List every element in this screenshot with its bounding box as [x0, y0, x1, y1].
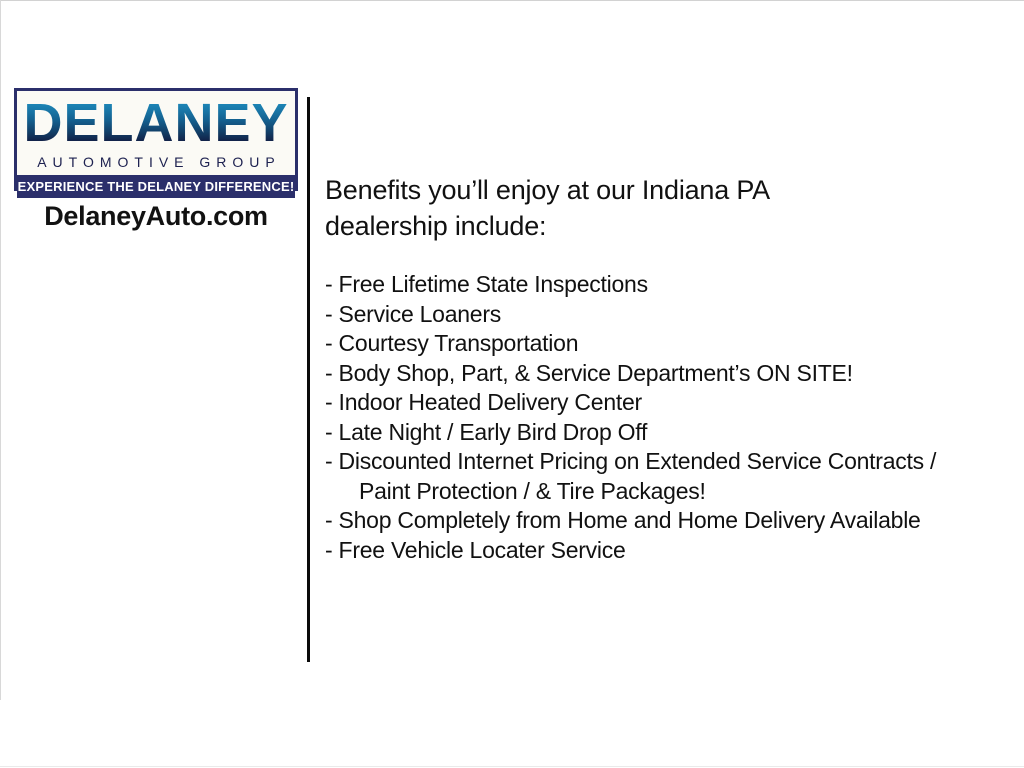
benefit-item-5: - Indoor Heated Delivery Center [325, 388, 1005, 418]
benefit-item-1: - Free Lifetime State Inspections [325, 270, 1005, 300]
brand-website-text: DelaneyAuto.com [14, 200, 298, 232]
top-edge-line [0, 0, 1024, 1]
benefit-item-2: - Service Loaners [325, 300, 1005, 330]
slide-canvas: DELANEY AUTOMOTIVE GROUP EXPERIENCE THE … [0, 0, 1024, 768]
benefit-text: - Discounted Internet Pricing on Extende… [325, 448, 936, 474]
benefits-list: - Free Lifetime State Inspections - Serv… [325, 270, 1005, 565]
benefits-heading: Benefits you’ll enjoy at our Indiana PA … [325, 172, 865, 244]
benefit-item-3: - Courtesy Transportation [325, 329, 1005, 359]
benefit-text-continuation: Paint Protection / & Tire Packages! [325, 477, 1005, 507]
benefit-text: - Free Lifetime State Inspections [325, 271, 648, 297]
vertical-divider [307, 97, 310, 662]
brand-logo-block: DELANEY AUTOMOTIVE GROUP EXPERIENCE THE … [14, 88, 298, 191]
benefit-item-4: - Body Shop, Part, & Service Department’… [325, 359, 1005, 389]
brand-tagline-banner: EXPERIENCE THE DELANEY DIFFERENCE! [17, 176, 295, 198]
left-edge-line [0, 0, 1, 700]
benefit-item-6: - Late Night / Early Bird Drop Off [325, 418, 1005, 448]
benefit-text: - Body Shop, Part, & Service Department’… [325, 360, 853, 386]
benefit-text: - Shop Completely from Home and Home Del… [325, 507, 921, 533]
benefit-text: - Free Vehicle Locater Service [325, 537, 626, 563]
content-column: Benefits you’ll enjoy at our Indiana PA … [325, 172, 1005, 565]
bottom-edge-line [0, 766, 1024, 767]
benefit-item-8: - Shop Completely from Home and Home Del… [325, 506, 1005, 536]
benefit-text: - Late Night / Early Bird Drop Off [325, 419, 647, 445]
brand-subtitle: AUTOMOTIVE GROUP [17, 154, 295, 170]
benefit-text: - Courtesy Transportation [325, 330, 578, 356]
benefit-item-7: - Discounted Internet Pricing on Extende… [325, 447, 1005, 506]
benefit-text: - Indoor Heated Delivery Center [325, 389, 642, 415]
benefit-item-9: - Free Vehicle Locater Service [325, 536, 1005, 566]
brand-logo-card: DELANEY AUTOMOTIVE GROUP EXPERIENCE THE … [14, 88, 298, 191]
benefit-text: - Service Loaners [325, 301, 501, 327]
brand-wordmark: DELANEY [17, 94, 295, 152]
